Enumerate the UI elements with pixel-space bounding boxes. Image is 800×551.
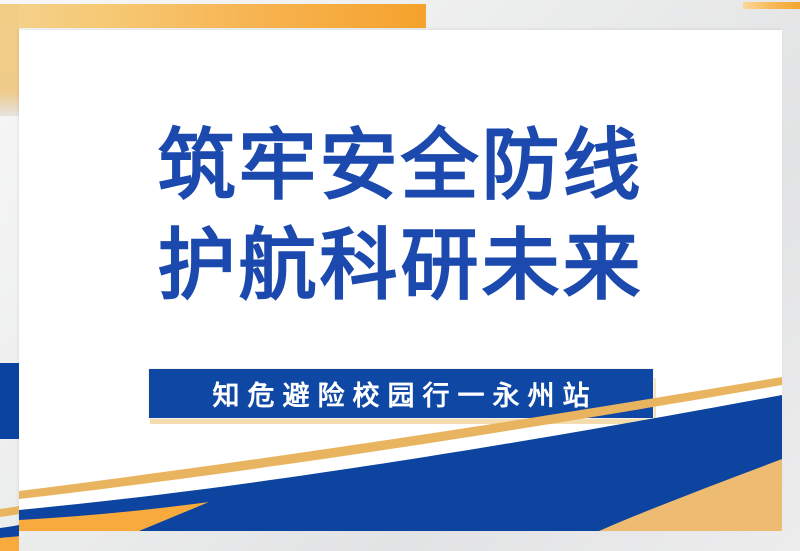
poster-canvas: 筑牢安全防线 护航科研未来 知危避险校园行一永州站 — [0, 0, 800, 551]
bottom-ribbon-swoosh-decor — [19, 371, 782, 531]
poster-content-card: 筑牢安全防线 护航科研未来 知危避险校园行一永州站 — [19, 30, 782, 531]
headline-line-1: 筑牢安全防线 — [19, 126, 782, 204]
gold-corner-chip-decor — [743, 2, 800, 9]
blue-edge-chip-decor — [0, 363, 19, 439]
gold-left-band-decor — [0, 4, 19, 96]
headline-line-2: 护航科研未来 — [19, 226, 782, 304]
gold-top-band-decor — [0, 4, 426, 28]
gold-left-band-fade-decor — [0, 92, 19, 116]
page-title: 筑牢安全防线 护航科研未来 — [19, 126, 782, 304]
